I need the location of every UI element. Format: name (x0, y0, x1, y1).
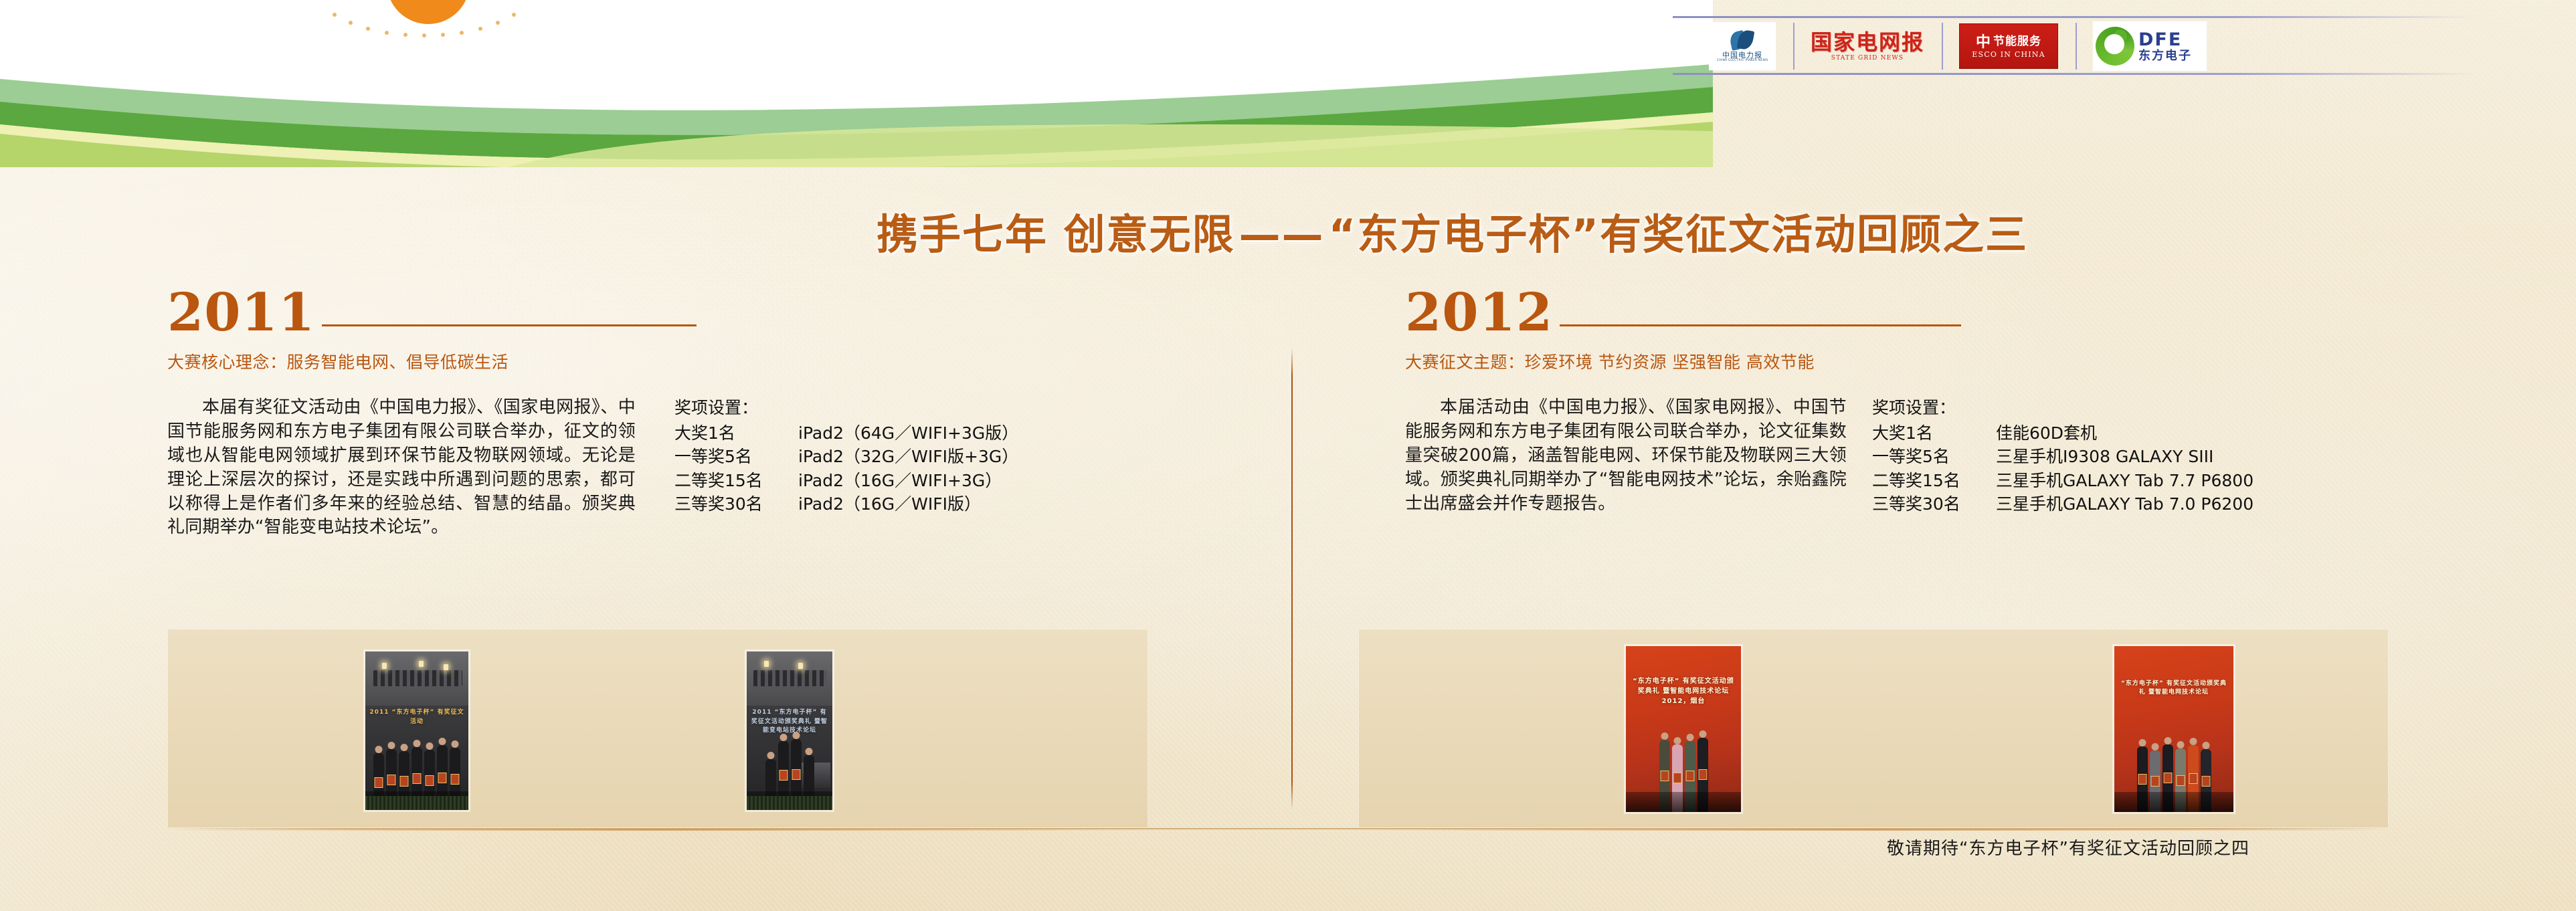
award-row: 一等奖5名 三星手机I9308 GALAXY SIII (1872, 445, 2253, 469)
award-label: 三等奖30名 (674, 492, 798, 516)
award-label: 三等奖30名 (1872, 492, 1996, 516)
poster-canvas: 中国电力报 CHINA ELECTRIC POWER NEWS 国家电网报 ST… (0, 0, 2576, 911)
sponsor-logo-bar: 中国电力报 CHINA ELECTRIC POWER NEWS 国家电网报 ST… (1673, 4, 2502, 76)
column-subtitle-2011: 大赛核心理念：服务智能电网、倡导低碳生活 (167, 349, 1164, 373)
photo-2011-award-presentation[interactable]: 2011 “东方电子杯” 有奖征文活动颁奖典礼 暨智能变电站技术论坛 (747, 651, 832, 810)
award-row: 大奖1名 佳能60D套机 (1872, 421, 2253, 445)
award-row: 二等奖15名 三星手机GALAXY Tab 7.7 P6800 (1872, 469, 2253, 493)
sgn-logo-en: STATE GRID NEWS (1831, 56, 1904, 62)
year-label-2012: 2012 (1405, 292, 1553, 334)
awards-list-2011: 奖项设置： 大奖1名 iPad2（64G／WIFI+3G版） 一等奖5名 iPa… (674, 396, 1018, 540)
award-value: iPad2（16G／WIFI版） (798, 492, 981, 516)
dfe-logo-en: DFE (2138, 31, 2192, 49)
award-value: iPad2（32G／WIFI版+3G） (798, 445, 1018, 469)
photo-panel-2011: 2011 “东方电子杯” 有奖征文活动 (167, 629, 1148, 828)
esco-zhong-glyph: 中 (1976, 35, 1991, 49)
footer-rule (166, 828, 2394, 829)
award-label: 一等奖5名 (674, 445, 798, 469)
awards-list-2012: 奖项设置： 大奖1名 佳能60D套机 一等奖5名 三星手机I9308 GALAX… (1872, 396, 2253, 516)
award-label: 二等奖15名 (674, 469, 798, 493)
award-value: 三星手机I9308 GALAXY SIII (1996, 445, 2213, 469)
column-subtitle-2012: 大赛征文主题：珍爱环境 节约资源 坚强智能 高效节能 (1405, 349, 2409, 373)
page-title-tail: “东方电子杯”有奖征文活动回顾之三 (1329, 210, 2029, 259)
footer-note: 敬请期待“东方电子杯”有奖征文活动回顾之四 (1887, 835, 2249, 859)
sgn-logo-cn: 国家电网报 (1811, 31, 1924, 53)
photo-2012-award-presentation[interactable]: “东方电子杯” 有奖征文活动颁奖典礼 暨智能电网技术论坛 2012，烟台 (1626, 646, 1741, 812)
award-label: 二等奖15名 (1872, 469, 1996, 493)
award-row: 二等奖15名 iPad2（16G／WIFI+3G） (674, 469, 1018, 493)
column-paragraph-2012: 本届活动由《中国电力报》、《国家电网报》、中国节能服务网和东方电子集团有限公司联… (1405, 396, 1847, 516)
award-row: 三等奖30名 iPad2（16G／WIFI版） (674, 492, 1018, 516)
year-column-2011: 2011 大赛核心理念：服务智能电网、倡导低碳生活 本届有奖征文活动由《中国电力… (167, 281, 1164, 540)
esco-logo-cn: 节能服务 (1993, 36, 2041, 47)
sponsor-logo-esco-in-china[interactable]: 中 节能服务 ESCO IN CHINA (1942, 21, 2076, 71)
dfe-logo-cn: 东方电子 (2138, 50, 2192, 62)
sponsor-logo-china-electric-power-news[interactable]: 中国电力报 CHINA ELECTRIC POWER NEWS (1691, 21, 1793, 71)
award-value: 三星手机GALAXY Tab 7.0 P6200 (1996, 492, 2253, 516)
dfe-swirl-icon (2096, 27, 2134, 66)
photo-2011-ceremony-group[interactable]: 2011 “东方电子杯” 有奖征文活动 (365, 651, 468, 810)
photo-panel-2012: “东方电子杯” 有奖征文活动颁奖典礼 暨智能电网技术论坛 2012，烟台 “东方… (1358, 629, 2389, 828)
column-divider (1291, 348, 1293, 809)
logo-bar-rule-bottom (1673, 73, 2476, 75)
cepn-logo-en: CHINA ELECTRIC POWER NEWS (1717, 60, 1768, 63)
photo-2012-winners-group[interactable]: “东方电子杯” 有奖征文活动颁奖典礼 暨智能电网技术论坛 (2114, 646, 2233, 812)
award-value: iPad2（64G／WIFI+3G版） (798, 421, 1018, 445)
page-title-main: 携手七年 创意无限 (877, 210, 1235, 259)
award-label: 大奖1名 (674, 421, 798, 445)
award-value: 佳能60D套机 (1996, 421, 2097, 445)
award-row: 一等奖5名 iPad2（32G／WIFI版+3G） (674, 445, 1018, 469)
year-underline-2012 (1560, 324, 1961, 326)
column-paragraph-2011: 本届有奖征文活动由《中国电力报》、《国家电网报》、中国节能服务网和东方电子集团有… (167, 396, 636, 540)
esco-logo-en: ESCO IN CHINA (1972, 51, 2045, 58)
year-underline-2011 (322, 324, 697, 326)
award-label: 大奖1名 (1872, 421, 1996, 445)
page-title: 携手七年 创意无限——“东方电子杯”有奖征文活动回顾之三 (877, 201, 2028, 261)
year-header-2011: 2011 (167, 281, 1164, 334)
award-value: iPad2（16G／WIFI+3G） (798, 469, 1002, 493)
year-label-2011: 2011 (167, 292, 315, 334)
award-row: 大奖1名 iPad2（64G／WIFI+3G版） (674, 421, 1018, 445)
award-label: 一等奖5名 (1872, 445, 1996, 469)
green-swoosh-banner (0, 0, 1713, 167)
sponsor-logo-dongfang-electronics[interactable]: DFE 东方电子 (2076, 21, 2224, 71)
cepn-logo-cn: 中国电力报 (1722, 52, 1762, 59)
page-title-dash: —— (1235, 210, 1329, 259)
sponsor-logo-state-grid-news[interactable]: 国家电网报 STATE GRID NEWS (1793, 21, 1942, 71)
award-row: 三等奖30名 三星手机GALAXY Tab 7.0 P6200 (1872, 492, 2253, 516)
award-value: 三星手机GALAXY Tab 7.7 P6800 (1996, 469, 2253, 493)
awards-heading-2012: 奖项设置： (1872, 396, 2253, 420)
cepn-mark-icon (1729, 29, 1756, 51)
year-column-2012: 2012 大赛征文主题：珍爱环境 节约资源 坚强智能 高效节能 本届活动由《中国… (1405, 281, 2409, 516)
year-header-2012: 2012 (1405, 281, 2409, 334)
awards-heading-2011: 奖项设置： (674, 396, 1018, 420)
logo-bar-rule-top (1673, 16, 2476, 18)
